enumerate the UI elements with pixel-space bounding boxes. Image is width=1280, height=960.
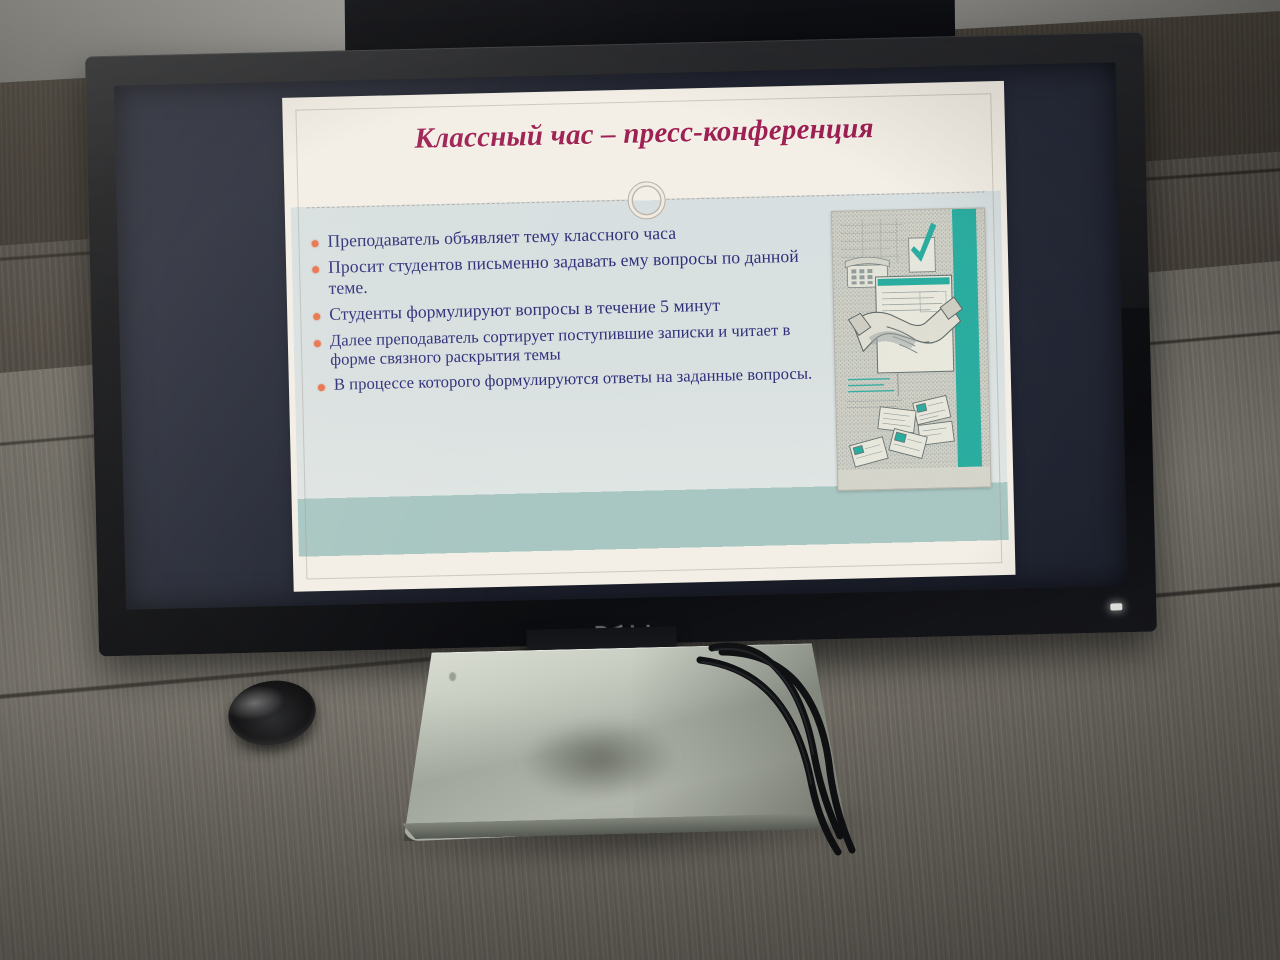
bullet-text: Далее преподаватель сортирует поступивши… <box>330 319 829 369</box>
slide-title-area: Классный час – пресс-конференция <box>289 109 1000 159</box>
bullet-dot-icon <box>311 240 318 247</box>
slide-inner: Классный час – пресс-конференция Препода… <box>288 87 1009 586</box>
photo-scene: Классный час – пресс-конференция Препода… <box>0 0 1280 960</box>
dell-monitor: Классный час – пресс-конференция Препода… <box>85 32 1157 657</box>
list-item: Просит студентов письменно задавать ему … <box>312 246 827 299</box>
handshake-clipart-image <box>831 207 992 491</box>
base-screw-mark <box>449 672 456 681</box>
bullet-list: Преподаватель объявляет тему классного ч… <box>311 209 839 551</box>
bullet-dot-icon <box>314 340 321 347</box>
monitor-screen: Классный час – пресс-конференция Препода… <box>114 62 1128 609</box>
bullet-text: Преподаватель объявляет тему классного ч… <box>327 223 676 252</box>
bullet-dot-icon <box>313 313 320 320</box>
list-item: В процессе которого формулируются ответы… <box>315 363 829 394</box>
monitor-stand-base <box>401 643 845 842</box>
bullet-text: В процессе которого формулируются ответы… <box>334 364 813 395</box>
bullet-dot-icon <box>318 384 325 391</box>
slide-title: Классный час – пресс-конференция <box>289 109 1000 159</box>
clipart-svg <box>832 208 991 490</box>
slide-body: Преподаватель объявляет тему классного ч… <box>291 205 1009 552</box>
presentation-slide: Классный час – пресс-конференция Препода… <box>282 81 1015 592</box>
list-item: Далее преподаватель сортирует поступивши… <box>314 319 829 370</box>
bullet-text: Студенты формулируют вопросы в течение 5… <box>329 295 720 325</box>
bullet-text: Просит студентов письменно задавать ему … <box>328 246 827 299</box>
bullet-dot-icon <box>312 266 319 273</box>
